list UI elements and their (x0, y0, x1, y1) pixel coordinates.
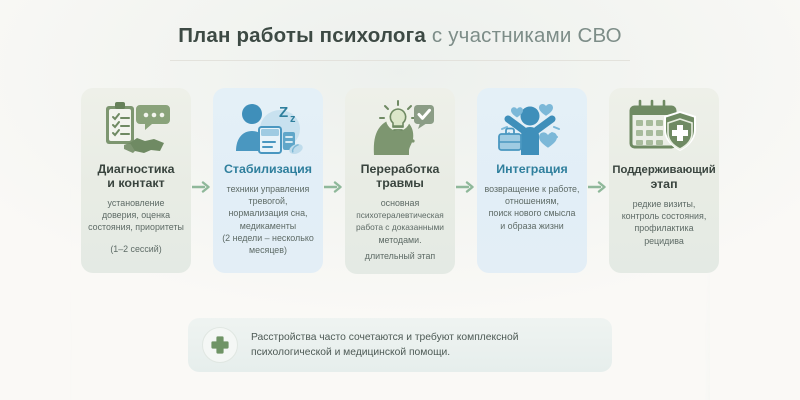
page-title-strong: План работы психолога (178, 24, 426, 47)
body-line: доверия, оценка (88, 209, 184, 221)
body-line: методами. (356, 234, 444, 246)
person-arms-up-hearts-briefcase-icon (495, 98, 569, 156)
stage-card-maintenance[interactable]: Поддерживающий этап редкие визиты, контр… (609, 88, 719, 273)
stage-card-body: установление доверия, оценка состояния, … (85, 197, 187, 255)
body-line: рецидива (622, 235, 707, 247)
title-line: этап (650, 177, 677, 191)
title-line: Интеграция (496, 162, 567, 176)
stage-card-body: техники управления тревогой, нормализаци… (219, 183, 317, 256)
page-title: План работы психолога с участниками СВО (0, 24, 800, 48)
medical-cross-icon (202, 327, 238, 363)
body-line: и образа жизни (485, 220, 580, 232)
calendar-shield-cross-icon (627, 98, 701, 156)
title-line: Диагностика (97, 162, 174, 176)
banner-line: Расстройства часто сочетаются и требуют … (251, 330, 518, 345)
arrow-right-icon-2 (323, 88, 345, 273)
body-line: психотералевтическая (356, 209, 444, 221)
stage-card-title: Переработка травмы (359, 162, 442, 190)
stage-card-body: основная психотералевтическая работа с д… (353, 197, 447, 262)
body-line: возвращение к работе, (485, 183, 580, 195)
body-line: нормализация сна, (222, 207, 314, 219)
page-title-light: с участниками СВО (432, 24, 622, 47)
stage-cards-row: Диагностика и контакт установление довер… (0, 88, 800, 298)
body-line: (2 недели – несколько (222, 232, 314, 244)
body-line: состояния, приоритеты (88, 221, 184, 233)
body-line: тревогой, (222, 195, 314, 207)
body-line: медикаменты (222, 220, 314, 232)
title-line: травмы (376, 176, 424, 190)
head-lightbulb-checkmark-icon (363, 98, 437, 156)
banner-line: психологической и медицинской помощи. (251, 345, 518, 360)
body-line: установление (88, 197, 184, 209)
body-line: длительный этап (356, 250, 444, 262)
body-line: работа с доказанными (356, 221, 444, 233)
body-line: контроль состояния, (622, 210, 707, 222)
arrow-right-icon-1 (191, 88, 213, 273)
note-banner: Расстройства часто сочетаются и требуют … (188, 318, 612, 372)
body-line: профилактика (622, 222, 707, 234)
stage-card-stabilization[interactable]: Z z Стабилизация техники управления (213, 88, 323, 273)
title-line: и контакт (107, 176, 164, 190)
body-line: месяцев) (222, 244, 314, 256)
stage-card-body: возвращение к работе, отношениям, поиск … (482, 183, 583, 232)
arrow-right-icon-3 (455, 88, 477, 273)
body-line: отношениям, (485, 195, 580, 207)
stage-card-integration[interactable]: Интеграция возвращение к работе, отношен… (477, 88, 587, 273)
body-line: редкие визиты, (622, 198, 707, 210)
stage-card-title: Интеграция (494, 162, 569, 176)
page-title-area: План работы психолога с участниками СВО (0, 24, 800, 48)
svg-text:Z: Z (279, 104, 288, 121)
title-line: Поддерживающий (612, 164, 715, 176)
stage-card-body: редкие визиты, контроль состояния, профи… (619, 198, 710, 247)
stage-card-title: Поддерживающий этап (610, 162, 717, 191)
stage-card-title: Диагностика и контакт (95, 162, 176, 190)
body-line: (1–2 сессий) (88, 243, 184, 255)
stage-card-diagnostics[interactable]: Диагностика и контакт установление довер… (81, 88, 191, 273)
person-sleep-medication-icon: Z z (231, 98, 305, 156)
note-banner-text: Расстройства часто сочетаются и требуют … (251, 330, 518, 360)
stage-card-title: Стабилизация (222, 162, 314, 176)
stage-card-trauma-processing[interactable]: Переработка травмы основная психотералев… (345, 88, 455, 274)
body-line: техники управления (222, 183, 314, 195)
clipboard-checklist-speech-handshake-icon (99, 98, 173, 156)
title-line: Переработка (361, 162, 440, 176)
svg-text:z: z (290, 113, 296, 125)
body-line: основная (356, 197, 444, 209)
title-line: Стабилизация (224, 162, 312, 176)
title-divider (170, 60, 630, 61)
body-line: поиск нового смысла (485, 207, 580, 219)
arrow-right-icon-4 (587, 88, 609, 273)
